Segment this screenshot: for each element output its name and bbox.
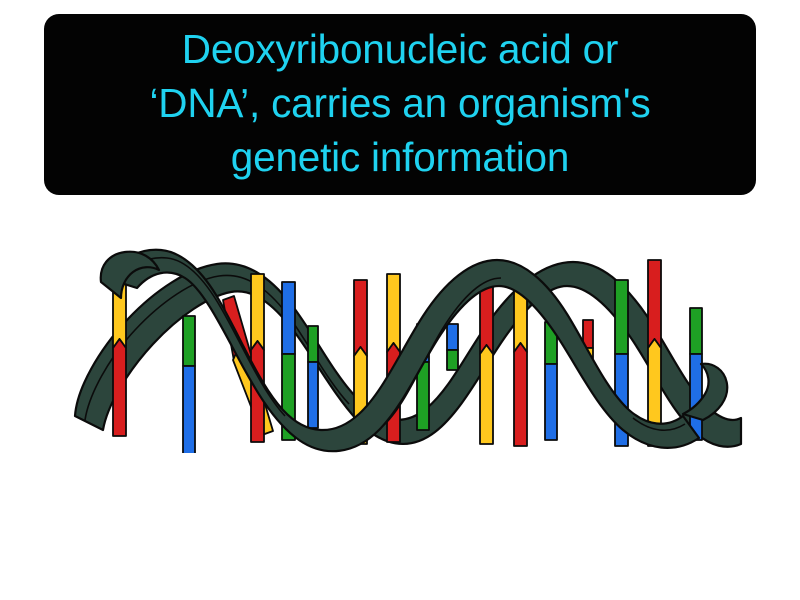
definition-banner: Deoxyribonucleic acid or ‘DNA’, carries … (44, 14, 756, 195)
dna-helix-svg: .bb { fill:#2C453C; stroke:#0B0B0B; stro… (55, 238, 745, 453)
flashcard-root: Deoxyribonucleic acid or ‘DNA’, carries … (0, 0, 800, 600)
base-pair-rung (308, 326, 318, 428)
base-pair-rung (447, 324, 458, 370)
definition-text: Deoxyribonucleic acid or ‘DNA’, carries … (149, 22, 650, 184)
base-pair-rung (545, 322, 557, 440)
base-pair-rung (183, 316, 195, 453)
dna-double-helix-illustration: .bb { fill:#2C453C; stroke:#0B0B0B; stro… (55, 238, 745, 453)
base-pair-rung (480, 278, 493, 444)
base-pair-rung (251, 274, 264, 442)
base-pair-rung (648, 260, 661, 446)
